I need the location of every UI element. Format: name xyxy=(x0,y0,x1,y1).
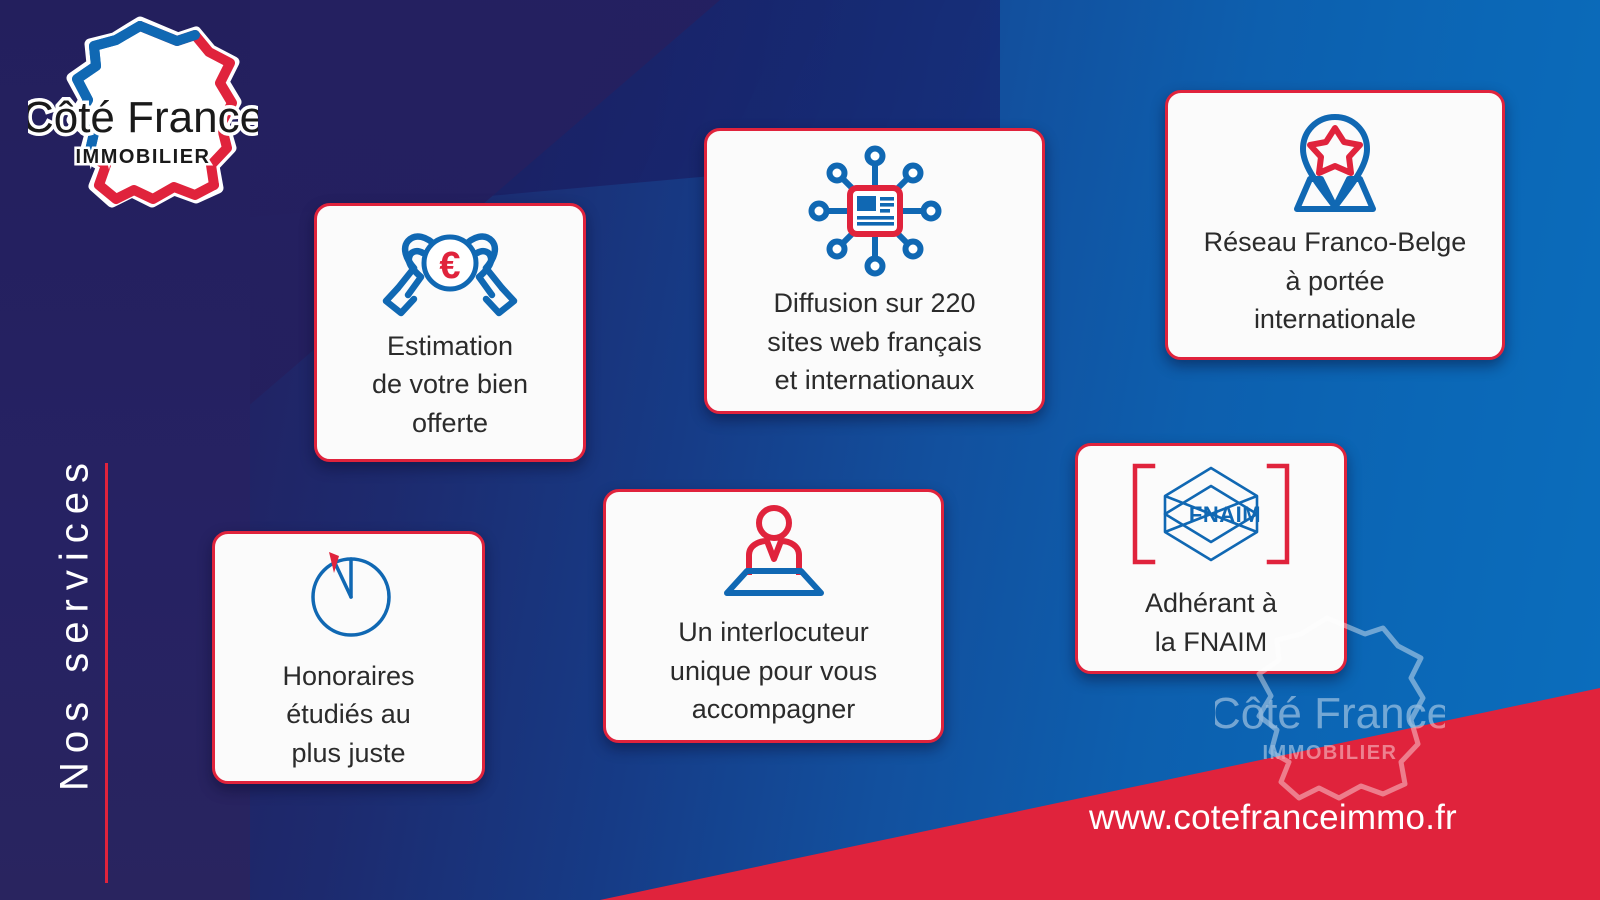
map-pin-star-icon xyxy=(1275,111,1395,217)
svg-text:€: € xyxy=(439,245,460,287)
website-url[interactable]: www.cotefranceimmo.fr xyxy=(1089,798,1457,838)
logo-brand-name: Côté France xyxy=(28,93,258,142)
service-card-diffusion[interactable]: Diffusion sur 220 sites web français et … xyxy=(704,128,1045,414)
person-at-desk-icon xyxy=(711,503,837,599)
watermark-logo: Côté France IMMOBILIER xyxy=(1215,612,1445,812)
section-red-rule xyxy=(105,463,108,883)
network-hub-document-icon xyxy=(805,142,945,280)
watermark-tagline: IMMOBILIER xyxy=(1263,742,1398,764)
service-card-label: Réseau Franco-Belge à portée internation… xyxy=(1204,223,1467,339)
fnaim-wordmark: FNAIM xyxy=(1189,502,1261,527)
service-card-label: Diffusion sur 220 sites web français et … xyxy=(767,284,982,400)
hands-holding-euro-coin-icon: € xyxy=(375,223,525,319)
service-card-reseau[interactable]: Réseau Franco-Belge à portée internation… xyxy=(1165,90,1505,360)
service-card-label: Un interlocuteur unique pour vous accomp… xyxy=(670,613,877,729)
poster-canvas: Côté France IMMOBILIER Nos services € Es… xyxy=(0,0,1600,900)
pie-chart-icon xyxy=(299,543,399,641)
watermark-brand-name: Côté France xyxy=(1215,689,1445,738)
service-card-label: Estimation de votre bien offerte xyxy=(372,327,528,443)
service-card-label: Honoraires étudiés au plus juste xyxy=(282,657,414,773)
service-card-estimation[interactable]: € Estimation de votre bien offerte xyxy=(314,203,586,462)
service-card-honoraires[interactable]: Honoraires étudiés au plus juste xyxy=(212,531,485,784)
logo-tagline: IMMOBILIER xyxy=(76,146,211,168)
fnaim-logo-icon: FNAIM xyxy=(1121,456,1301,572)
brand-logo: Côté France IMMOBILIER xyxy=(28,16,258,216)
service-card-interlocuteur[interactable]: Un interlocuteur unique pour vous accomp… xyxy=(603,489,944,743)
section-vertical-title: Nos services xyxy=(53,413,98,833)
